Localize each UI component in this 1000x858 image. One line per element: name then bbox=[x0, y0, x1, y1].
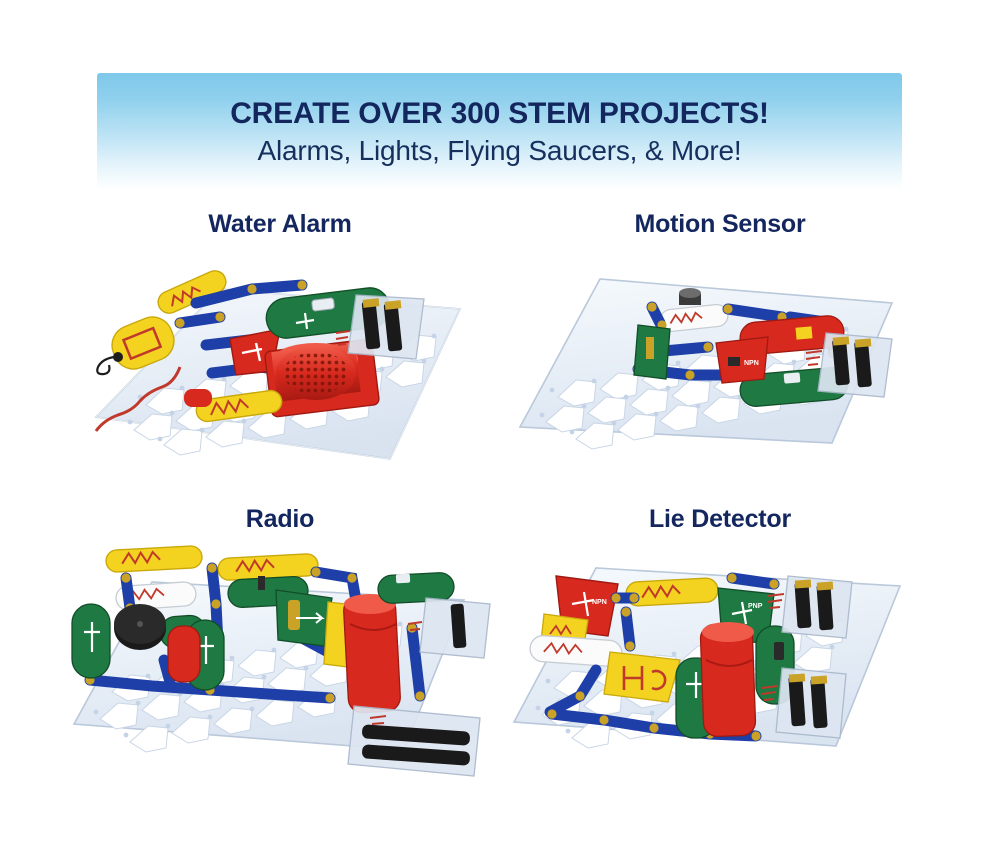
green-variable-cap-snap bbox=[276, 590, 332, 646]
project-card-radio: Radio bbox=[60, 505, 500, 805]
svg-text:NPN: NPN bbox=[592, 599, 607, 606]
battery-holder-2 bbox=[348, 706, 480, 776]
yellow-resistor-snap-2 bbox=[217, 553, 318, 580]
black-speaker bbox=[114, 604, 166, 650]
project-photo-motion-sensor: NPN bbox=[500, 247, 940, 492]
project-card-motion-sensor: Motion Sensor bbox=[500, 210, 940, 500]
project-photo-lie-detector: NPN bbox=[500, 542, 940, 797]
project-photo-radio bbox=[60, 542, 500, 797]
snap-circuit-illustration: NPN bbox=[500, 247, 940, 492]
banner-subheadline: Alarms, Lights, Flying Saucers, & More! bbox=[258, 136, 742, 165]
project-card-water-alarm: Water Alarm bbox=[60, 210, 500, 500]
yellow-resistor-snap bbox=[105, 546, 202, 573]
project-title-radio: Radio bbox=[60, 505, 500, 534]
project-card-lie-detector: Lie Detector bbox=[500, 505, 940, 805]
snap-circuit-illustration bbox=[60, 542, 500, 797]
red-snap bbox=[168, 626, 200, 682]
snap-circuit-illustration bbox=[60, 247, 500, 492]
project-title-water-alarm: Water Alarm bbox=[60, 210, 500, 239]
project-photo-water-alarm bbox=[60, 247, 500, 492]
project-grid: Water Alarm bbox=[60, 200, 940, 820]
svg-text:NPN: NPN bbox=[744, 360, 759, 367]
banner-headline: CREATE OVER 300 STEM PROJECTS! bbox=[230, 98, 769, 130]
green-capacitor-snap bbox=[72, 604, 110, 678]
yellow-resistor-snap bbox=[625, 578, 718, 607]
promo-banner: CREATE OVER 300 STEM PROJECTS! Alarms, L… bbox=[97, 73, 902, 190]
project-title-lie-detector: Lie Detector bbox=[500, 505, 940, 534]
snap-circuit-illustration: NPN bbox=[500, 542, 940, 797]
red-antenna-coil bbox=[700, 622, 756, 737]
red-transistor-snap: NPN bbox=[716, 337, 768, 383]
yellow-base-snap bbox=[604, 652, 680, 702]
green-capacitor-snap bbox=[634, 325, 670, 379]
svg-text:PNP: PNP bbox=[748, 603, 763, 610]
red-antenna-coil bbox=[343, 594, 401, 713]
project-title-motion-sensor: Motion Sensor bbox=[500, 210, 940, 239]
